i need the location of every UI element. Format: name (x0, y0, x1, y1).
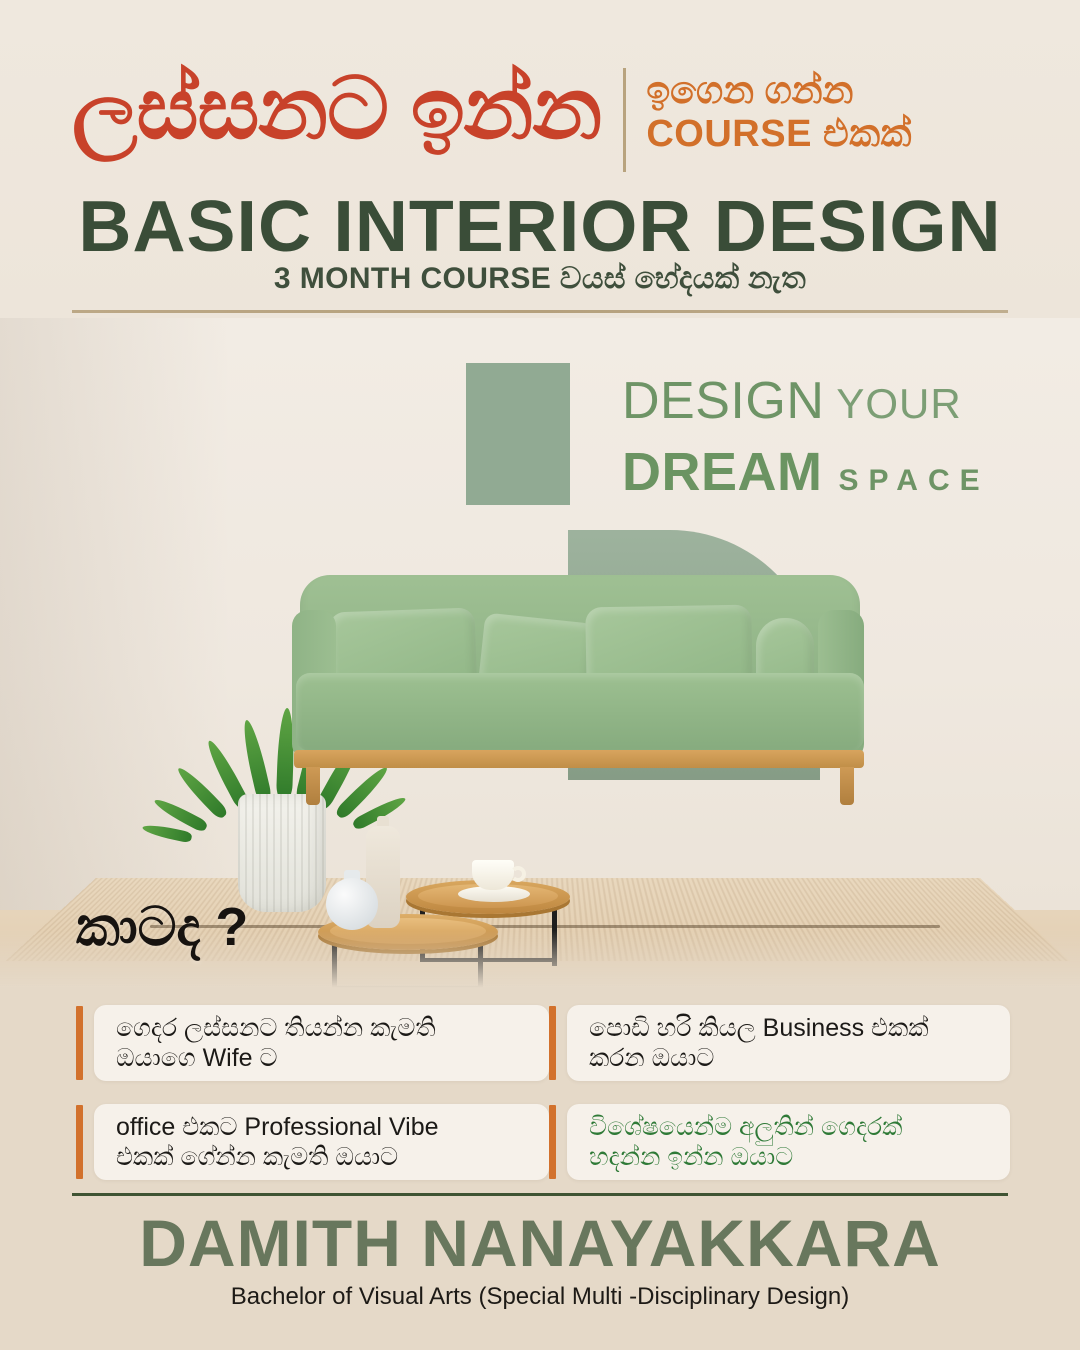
word-space: SPACE (839, 464, 990, 497)
coffee-cup (472, 860, 514, 890)
course-subtitle: 3 MONTH COURSE වයස් භේදයක් නැත (0, 262, 1080, 296)
word-design: DESIGN (622, 372, 824, 430)
card-accent-bar (76, 1006, 83, 1080)
dream-space-tagline: DESIGNYOUR DREAMSPACE (466, 363, 990, 505)
course-title: BASIC INTERIOR DESIGN (0, 186, 1080, 268)
audience-card[interactable]: ගෙදර ලස්සනට තියන්න කැමති ඔයාගෙ Wife ට (76, 1005, 549, 1081)
dream-tagline-line-2: DREAMSPACE (622, 445, 990, 499)
card-accent-bar (76, 1105, 83, 1179)
instructor-name: DAMITH NANAYAKKARA (0, 1205, 1080, 1281)
card-line: ගෙදර ලස්සනට තියන්න කැමති (116, 1013, 533, 1044)
card-line: හදන්න ඉන්න ඔයාට (589, 1142, 994, 1173)
poster-canvas: ලස්සනට ඉන්න ඉගෙන ගන්න COURSE එකක් BASIC … (0, 0, 1080, 1350)
sofa-wood-base (294, 750, 864, 768)
header-panel: ලස්සනට ඉන්න ඉගෙන ගන්න COURSE එකක් BASIC … (0, 0, 1080, 318)
hero-vertical-divider (623, 68, 626, 172)
dream-tagline-line-1: DESIGNYOUR (622, 375, 990, 427)
header-divider-rule (72, 310, 1008, 313)
card-accent-bar (549, 1105, 556, 1179)
card-line: විශේෂයෙන්ම අලුතින් ගෙදරක් (589, 1112, 994, 1143)
audience-card[interactable]: විශේෂයෙන්ම අලුතින් ගෙදරක් හදන්න ඉන්න ඔයා… (549, 1104, 1010, 1180)
hero-headline-row: ලස්සනට ඉන්න ඉගෙන ගන්න COURSE එකක් (72, 62, 1016, 180)
hero-side-callout: ඉගෙන ගන්න COURSE එකක් (646, 62, 912, 155)
sofa-leg (306, 767, 320, 805)
hero-side-line-1: ඉගෙන ගන්න (646, 70, 912, 113)
card-line: කරන ඔයාට (589, 1043, 994, 1074)
dream-tagline-text: DESIGNYOUR DREAMSPACE (622, 363, 990, 499)
sage-color-swatch (466, 363, 570, 505)
ribbed-planter (238, 794, 326, 912)
word-your: YOUR (836, 380, 961, 427)
rug-edge (150, 925, 940, 928)
hero-side-line-2: COURSE එකක් (646, 113, 912, 156)
sofa-leg (840, 767, 854, 805)
card-line: office එකට Professional Vibe (116, 1112, 533, 1143)
card-body: office එකට Professional Vibe එකක් ගේන්න … (94, 1104, 549, 1180)
audience-heading: කාටද ? (76, 900, 248, 954)
hero-sinhala-headline: ලස්සනට ඉන්න (72, 62, 601, 152)
footer-divider-rule (72, 1193, 1008, 1196)
audience-card[interactable]: office එකට Professional Vibe එකක් ගේන්න … (76, 1104, 549, 1180)
card-line: ඔයාගෙ Wife ට (116, 1043, 533, 1074)
coffee-cup-handle (510, 866, 526, 882)
card-line: එකක් ගේන්න කැමති ඔයාට (116, 1142, 533, 1173)
card-line: පොඩි හරි කියල Business එකක් (589, 1013, 994, 1044)
card-body: ගෙදර ලස්සනට තියන්න කැමති ඔයාගෙ Wife ට (94, 1005, 549, 1081)
card-accent-bar (549, 1006, 556, 1080)
instructor-credential: Bachelor of Visual Arts (Special Multi -… (0, 1283, 1080, 1311)
card-body: විශේෂයෙන්ම අලුතින් ගෙදරක් හදන්න ඉන්න ඔයා… (567, 1104, 1010, 1180)
word-dream: DREAM (622, 442, 823, 502)
round-ceramic-vase (326, 878, 378, 930)
audience-card[interactable]: පොඩි හරි කියල Business එකක් කරන ඔයාට (549, 1005, 1010, 1081)
sofa-seat (296, 673, 864, 751)
audience-card-grid: ගෙදර ලස්සනට තියන්න කැමති ඔයාගෙ Wife ට පො… (76, 1005, 1010, 1180)
card-body: පොඩි හරි කියල Business එකක් කරන ඔයාට (567, 1005, 1010, 1081)
